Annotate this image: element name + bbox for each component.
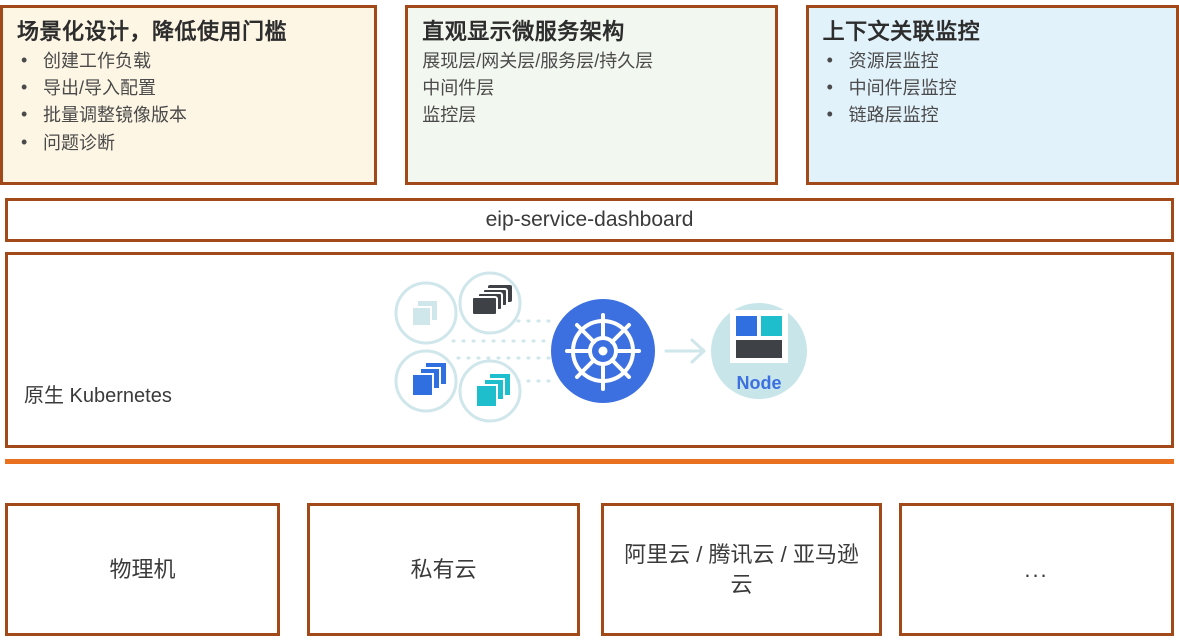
feature-card-list: 创建工作负载 导出/导入配置 批量调整镜像版本 问题诊断 — [17, 48, 360, 157]
flow-arrow-icon — [666, 340, 704, 362]
list-item: 链路层监控 — [823, 102, 1162, 129]
infra-box-label: ... — [1024, 555, 1048, 585]
feature-card-context-monitoring: 上下文关联监控 资源层监控 中间件层监控 链路层监控 — [806, 5, 1179, 185]
dashboard-bar: eip-service-dashboard — [5, 198, 1174, 242]
list-item: 导出/导入配置 — [17, 75, 360, 102]
kubernetes-label: 原生 Kubernetes — [24, 379, 172, 408]
list-item: 展现层/网关层/服务层/持久层 — [422, 48, 760, 75]
feature-card-scenario-design: 场景化设计，降低使用门槛 创建工作负载 导出/导入配置 批量调整镜像版本 问题诊… — [0, 5, 377, 185]
kubernetes-panel: 原生 Kubernetes — [5, 252, 1174, 448]
list-item: 中间件层监控 — [823, 75, 1162, 102]
kubernetes-helm-wheel-icon — [551, 299, 655, 403]
list-item: 创建工作负载 — [17, 48, 360, 75]
section-divider — [5, 459, 1174, 464]
infra-box-public-clouds: 阿里云 / 腾讯云 / 亚马逊云 — [601, 503, 882, 636]
pod-icon-blue — [396, 351, 456, 411]
list-item: 监控层 — [422, 102, 760, 129]
card-gap — [377, 5, 405, 185]
kubernetes-architecture-illustration: Node — [378, 263, 818, 433]
feature-card-list: 展现层/网关层/服务层/持久层 中间件层 监控层 — [422, 48, 760, 130]
infra-box-label: 私有云 — [410, 555, 476, 585]
feature-card-row: 场景化设计，降低使用门槛 创建工作负载 导出/导入配置 批量调整镜像版本 问题诊… — [0, 5, 1179, 185]
list-item: 资源层监控 — [823, 48, 1162, 75]
pod-icon-light — [396, 283, 456, 343]
pod-icon-cyan — [460, 361, 520, 421]
infra-box-label: 阿里云 / 腾讯云 / 亚马逊云 — [616, 540, 867, 599]
feature-card-title: 场景化设计，降低使用门槛 — [17, 18, 360, 46]
infra-box-more: ... — [899, 503, 1174, 636]
dashboard-label: eip-service-dashboard — [486, 208, 694, 232]
node-label: Node — [737, 373, 782, 393]
card-gap — [778, 5, 806, 185]
feature-card-title: 直观显示微服务架构 — [422, 18, 760, 46]
infra-box-physical-machine: 物理机 — [5, 503, 280, 636]
infra-box-label: 物理机 — [109, 555, 175, 585]
infra-gap — [280, 503, 307, 636]
feature-card-microservice-architecture: 直观显示微服务架构 展现层/网关层/服务层/持久层 中间件层 监控层 — [405, 5, 777, 185]
list-item: 批量调整镜像版本 — [17, 102, 360, 129]
feature-card-title: 上下文关联监控 — [823, 18, 1162, 46]
pod-icon-dark — [460, 273, 520, 333]
feature-card-list: 资源层监控 中间件层监控 链路层监控 — [823, 48, 1162, 130]
infra-gap — [882, 503, 899, 636]
infra-gap — [580, 503, 601, 636]
list-item: 中间件层 — [422, 75, 760, 102]
infrastructure-row: 物理机 私有云 阿里云 / 腾讯云 / 亚马逊云 ... — [5, 503, 1174, 636]
infra-box-private-cloud: 私有云 — [307, 503, 580, 636]
list-item: 问题诊断 — [17, 130, 360, 157]
